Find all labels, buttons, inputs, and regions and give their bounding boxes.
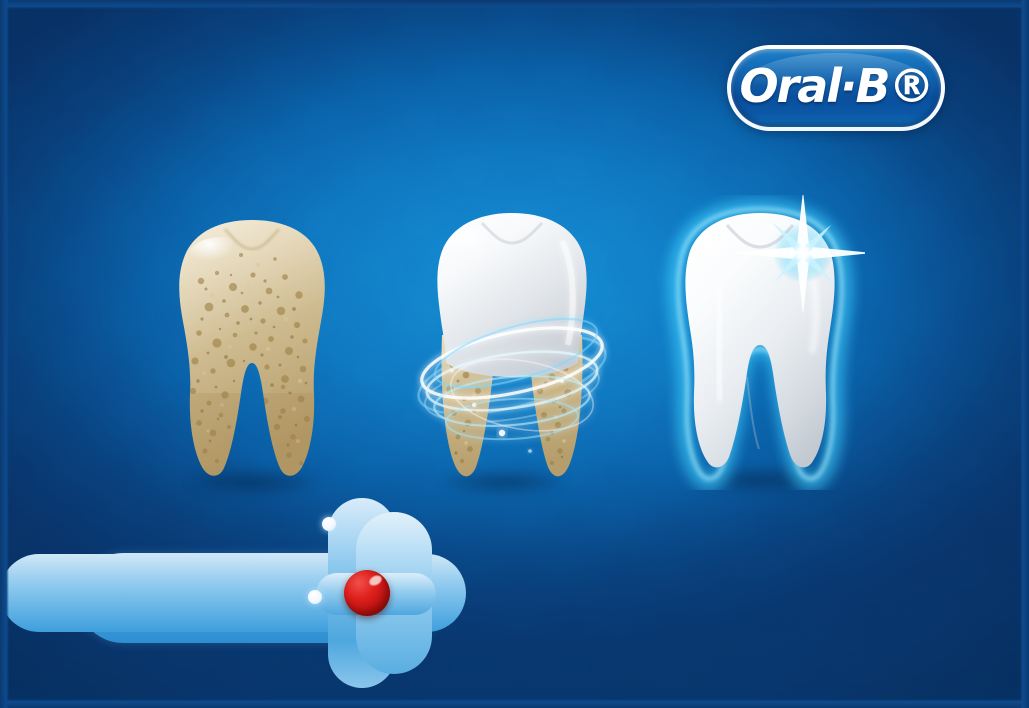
- logo-wordmark: Oral·B®: [739, 59, 932, 113]
- border-left: [0, 0, 9, 708]
- tooth-cleaning-graphic: [412, 205, 612, 490]
- tooth-clean-graphic: [655, 195, 865, 490]
- tooth-clean: [655, 195, 865, 490]
- border-right: [1020, 0, 1029, 708]
- tooth-stained-graphic: [165, 215, 340, 485]
- border-top: [0, 0, 1029, 9]
- atom-nucleus: [344, 570, 390, 616]
- tooth-stained: [165, 215, 340, 485]
- tooth-cleaning: [412, 205, 612, 490]
- atom-icon: [296, 498, 466, 688]
- atom-electron-left: [308, 590, 322, 604]
- atom-electron-top: [322, 517, 336, 531]
- oral-b-logo[interactable]: Oral·B®: [727, 45, 945, 131]
- logo-pill: Oral·B®: [731, 49, 941, 127]
- border-bottom: [0, 699, 1029, 708]
- advertisement-canvas: Oral·B® استانوس فلوراید Oral-B Stannous …: [0, 0, 1029, 708]
